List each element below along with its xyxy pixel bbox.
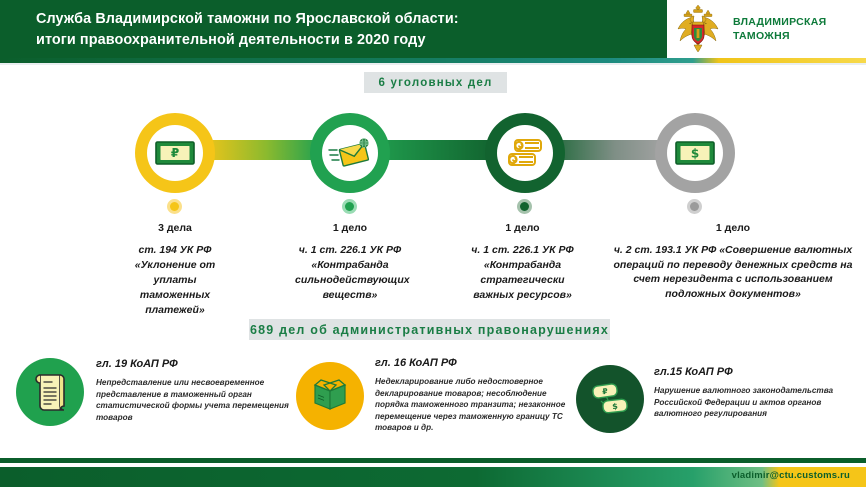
case-marker-dot-3 xyxy=(517,199,532,214)
timber-logs-icon xyxy=(506,137,544,169)
administrative-title-3: гл.15 КоАП РФ xyxy=(654,366,859,378)
administrative-title-2: гл. 16 КоАП РФ xyxy=(375,357,580,369)
criminal-cases-banner: 6 уголовных дел xyxy=(364,72,507,93)
page-title-line-2: итоги правоохранительной деятельности в … xyxy=(36,30,656,51)
administrative-icon-circle-3: ₽ $ xyxy=(576,365,644,433)
case-count-3: 1 дело xyxy=(460,222,585,234)
double-headed-eagle-emblem-icon xyxy=(675,3,721,55)
document-scroll-icon xyxy=(33,372,67,412)
open-box-icon xyxy=(311,379,349,413)
case-count-4: 1 дело xyxy=(610,222,856,234)
case-description-2: ч. 1 ст. 226.1 УК РФ «Контрабанда сильно… xyxy=(295,243,405,303)
logo-text-line-1: ВЛАДИМИРСКАЯ xyxy=(733,15,826,29)
criminal-node-1-inner: ₽ xyxy=(147,125,203,181)
case-description-3: ч. 1 ст. 226.1 УК РФ «Контрабанда страте… xyxy=(460,243,585,303)
footer-email: vladimir@ctu.customs.ru xyxy=(732,470,850,481)
ruble-banknote-icon: ₽ xyxy=(155,141,195,165)
case-marker-dot-4 xyxy=(687,199,702,214)
criminal-case-column-1: 3 дела ст. 194 УК РФ «Уклонение от уплат… xyxy=(130,222,220,318)
administrative-cases-banner: 689 дел об административных правонарушен… xyxy=(249,319,610,340)
criminal-case-column-3: 1 дело ч. 1 ст. 226.1 УК РФ «Контрабанда… xyxy=(460,222,585,303)
case-marker-dot-2 xyxy=(342,199,357,214)
criminal-node-4: $ xyxy=(655,113,735,193)
administrative-icon-circle-1 xyxy=(16,358,84,426)
criminal-node-2 xyxy=(310,113,390,193)
currency-bills-icon: ₽ $ xyxy=(589,381,631,417)
administrative-icon-circle-2 xyxy=(296,362,364,430)
dollar-banknote-icon: $ xyxy=(675,141,715,165)
page-title-line-1: Служба Владимирской таможни по Ярославск… xyxy=(36,11,459,27)
administrative-body-1: Непредставление или несвоевременное пред… xyxy=(96,377,296,423)
criminal-node-3 xyxy=(485,113,565,193)
case-marker-dot-1 xyxy=(167,199,182,214)
administrative-text-2: гл. 16 КоАП РФ Недекларирование либо нед… xyxy=(375,357,580,434)
logo-area: ВЛАДИМИРСКАЯ ТАМОЖНЯ xyxy=(667,0,866,58)
administrative-body-3: Нарушение валютного законодательства Рос… xyxy=(654,385,859,420)
header-divider-shadow xyxy=(0,63,866,65)
svg-text:$: $ xyxy=(691,147,699,161)
envelope-globe-icon xyxy=(328,138,372,168)
administrative-body-2: Недекларирование либо недостоверное декл… xyxy=(375,376,580,434)
criminal-node-2-inner xyxy=(322,125,378,181)
criminal-node-3-inner xyxy=(497,125,553,181)
criminal-case-column-2: 1 дело ч. 1 ст. 226.1 УК РФ «Контрабанда… xyxy=(295,222,405,303)
administrative-title-1: гл. 19 КоАП РФ xyxy=(96,358,296,370)
case-description-4: ч. 2 ст. 193.1 УК РФ «Совершение валютны… xyxy=(610,243,856,301)
criminal-node-4-inner: $ xyxy=(667,125,723,181)
criminal-cases-chain: ₽ xyxy=(0,100,866,200)
administrative-text-3: гл.15 КоАП РФ Нарушение валютного законо… xyxy=(654,366,859,420)
case-count-2: 1 дело xyxy=(295,222,405,234)
case-count-1: 3 дела xyxy=(130,222,220,234)
criminal-node-1: ₽ xyxy=(135,113,215,193)
logo-text-line-2: ТАМОЖНЯ xyxy=(733,29,826,43)
administrative-text-1: гл. 19 КоАП РФ Непредставление или несво… xyxy=(96,358,296,423)
chain-connector-1 xyxy=(200,140,320,160)
case-description-1: ст. 194 УК РФ «Уклонение от уплаты тамож… xyxy=(130,243,220,318)
footer-divider-line xyxy=(0,458,866,463)
criminal-case-column-4: 1 дело ч. 2 ст. 193.1 УК РФ «Совершение … xyxy=(610,222,856,301)
page-header: Служба Владимирской таможни по Ярославск… xyxy=(0,0,866,58)
svg-text:₽: ₽ xyxy=(171,146,179,160)
page-title: Служба Владимирской таможни по Ярославск… xyxy=(36,9,656,51)
logo-text: ВЛАДИМИРСКАЯ ТАМОЖНЯ xyxy=(733,15,826,43)
